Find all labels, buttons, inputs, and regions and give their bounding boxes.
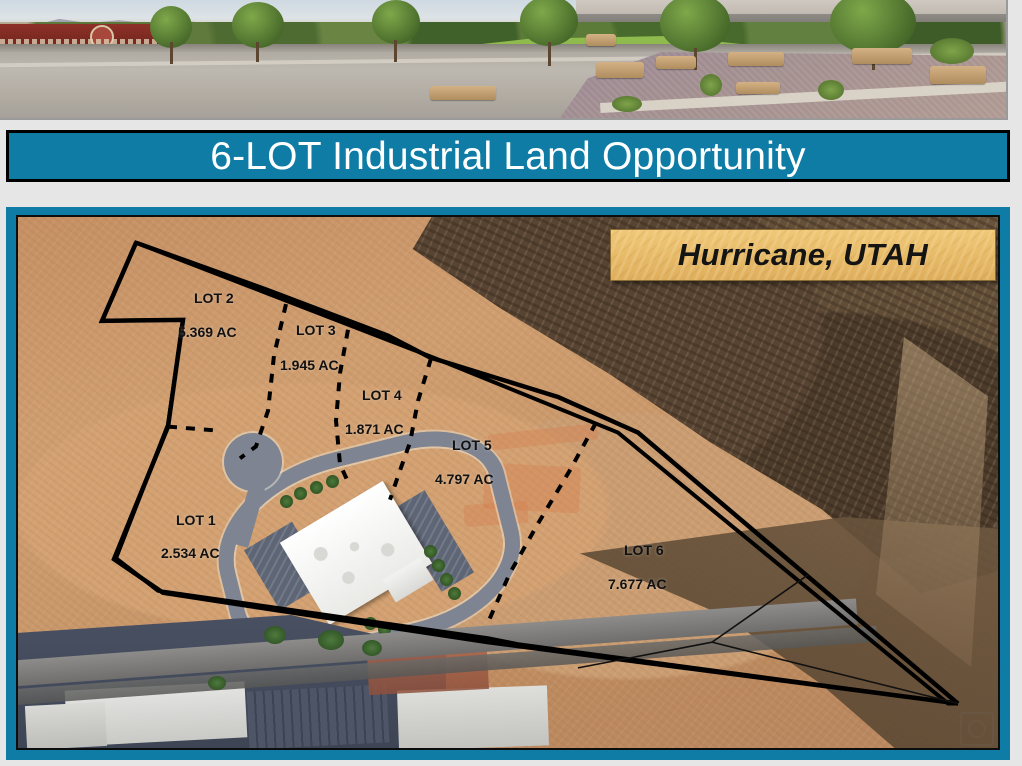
parcel-boundaries <box>18 217 998 748</box>
lot-6-label: LOT 6 <box>624 542 664 558</box>
photo-boulder <box>736 82 780 94</box>
lot-1-acreage: 2.534 AC <box>161 545 220 561</box>
photo-shrub <box>818 80 844 100</box>
title-banner: 6-LOT Industrial Land Opportunity <box>6 130 1010 182</box>
watermark-icon <box>960 712 994 746</box>
hero-photo-image <box>0 0 1006 118</box>
lot1-lot2-divider <box>168 427 218 431</box>
photo-boulder <box>586 34 616 46</box>
map-frame: LOT 1 2.534 AC LOT 2 5.369 AC LOT 3 1.94… <box>16 215 1000 750</box>
lot2-lot3-divider <box>240 304 286 458</box>
photo-tree <box>372 0 420 44</box>
lot-3-acreage: 1.945 AC <box>280 357 339 373</box>
photo-boulder <box>656 56 696 69</box>
photo-boulder <box>930 66 986 84</box>
photo-shrub <box>700 74 722 96</box>
photo-tree-trunk <box>256 42 259 62</box>
photo-tree-trunk <box>548 42 551 66</box>
interior-thin-line <box>712 575 958 704</box>
outer-boundary <box>102 243 958 704</box>
location-tag: Hurricane, UTAH <box>610 229 996 281</box>
lot5-lot6-divider <box>488 423 596 623</box>
outer-boundary-line <box>102 243 958 704</box>
outer-boundary-line-east <box>136 243 958 704</box>
lot-6-acreage: 7.677 AC <box>608 576 667 592</box>
map-panel: LOT 1 2.534 AC LOT 2 5.369 AC LOT 3 1.94… <box>6 207 1010 760</box>
photo-tree-trunk <box>170 42 173 64</box>
lot-5-acreage: 4.797 AC <box>435 471 494 487</box>
hero-photo <box>0 0 1008 120</box>
photo-shrub <box>930 38 974 64</box>
parcel-boundary-svg <box>18 217 998 748</box>
photo-boulder <box>430 86 496 100</box>
photo-boulder <box>596 62 644 78</box>
lot-4-label: LOT 4 <box>362 387 402 403</box>
photo-shrub <box>612 96 642 112</box>
lot3-lot4-divider <box>336 330 348 482</box>
photo-boulder <box>852 48 912 64</box>
slide-page: 6-LOT Industrial Land Opportunity <box>0 0 1022 766</box>
aerial-imagery: LOT 1 2.534 AC LOT 2 5.369 AC LOT 3 1.94… <box>18 217 998 748</box>
lot-1-label: LOT 1 <box>176 512 216 528</box>
photo-boulder <box>728 52 784 66</box>
lot-5-label: LOT 5 <box>452 437 492 453</box>
lot-2-acreage: 5.369 AC <box>178 324 237 340</box>
lot-2-label: LOT 2 <box>194 290 234 306</box>
lot-3-label: LOT 3 <box>296 322 336 338</box>
lot-4-acreage: 1.871 AC <box>345 421 404 437</box>
photo-tree-trunk <box>394 40 397 62</box>
page-title: 6-LOT Industrial Land Opportunity <box>210 137 806 176</box>
location-tag-text: Hurricane, UTAH <box>678 237 928 273</box>
